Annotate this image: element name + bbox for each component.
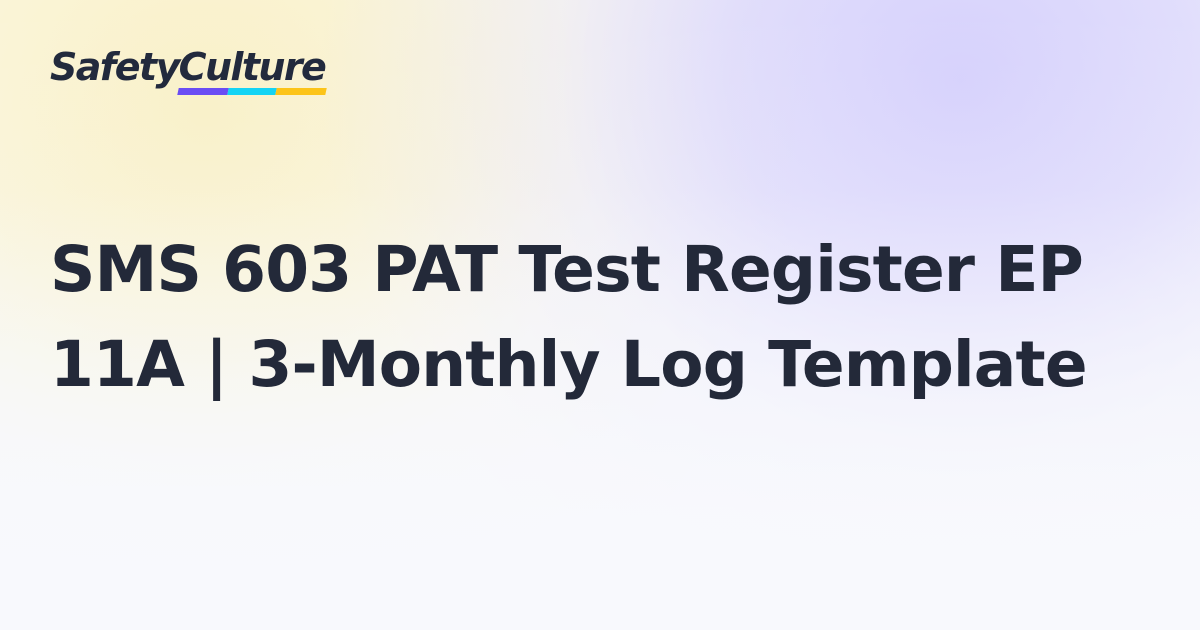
card-content: SafetyCulture SMS 603 PAT Test Register … — [0, 0, 1200, 630]
logo-underline-segment-cyan — [228, 88, 277, 95]
og-card: SafetyCulture SMS 603 PAT Test Register … — [0, 0, 1200, 630]
logo-underline-segment-purple — [177, 88, 229, 95]
logo-underline-accent — [177, 88, 326, 95]
logo-wordmark: SafetyCulture — [50, 48, 350, 86]
page-title: SMS 603 PAT Test Register EP 11A | 3-Mon… — [50, 222, 1155, 412]
safetyculture-logo: SafetyCulture — [50, 48, 350, 106]
logo-underline-segment-yellow — [275, 88, 327, 95]
